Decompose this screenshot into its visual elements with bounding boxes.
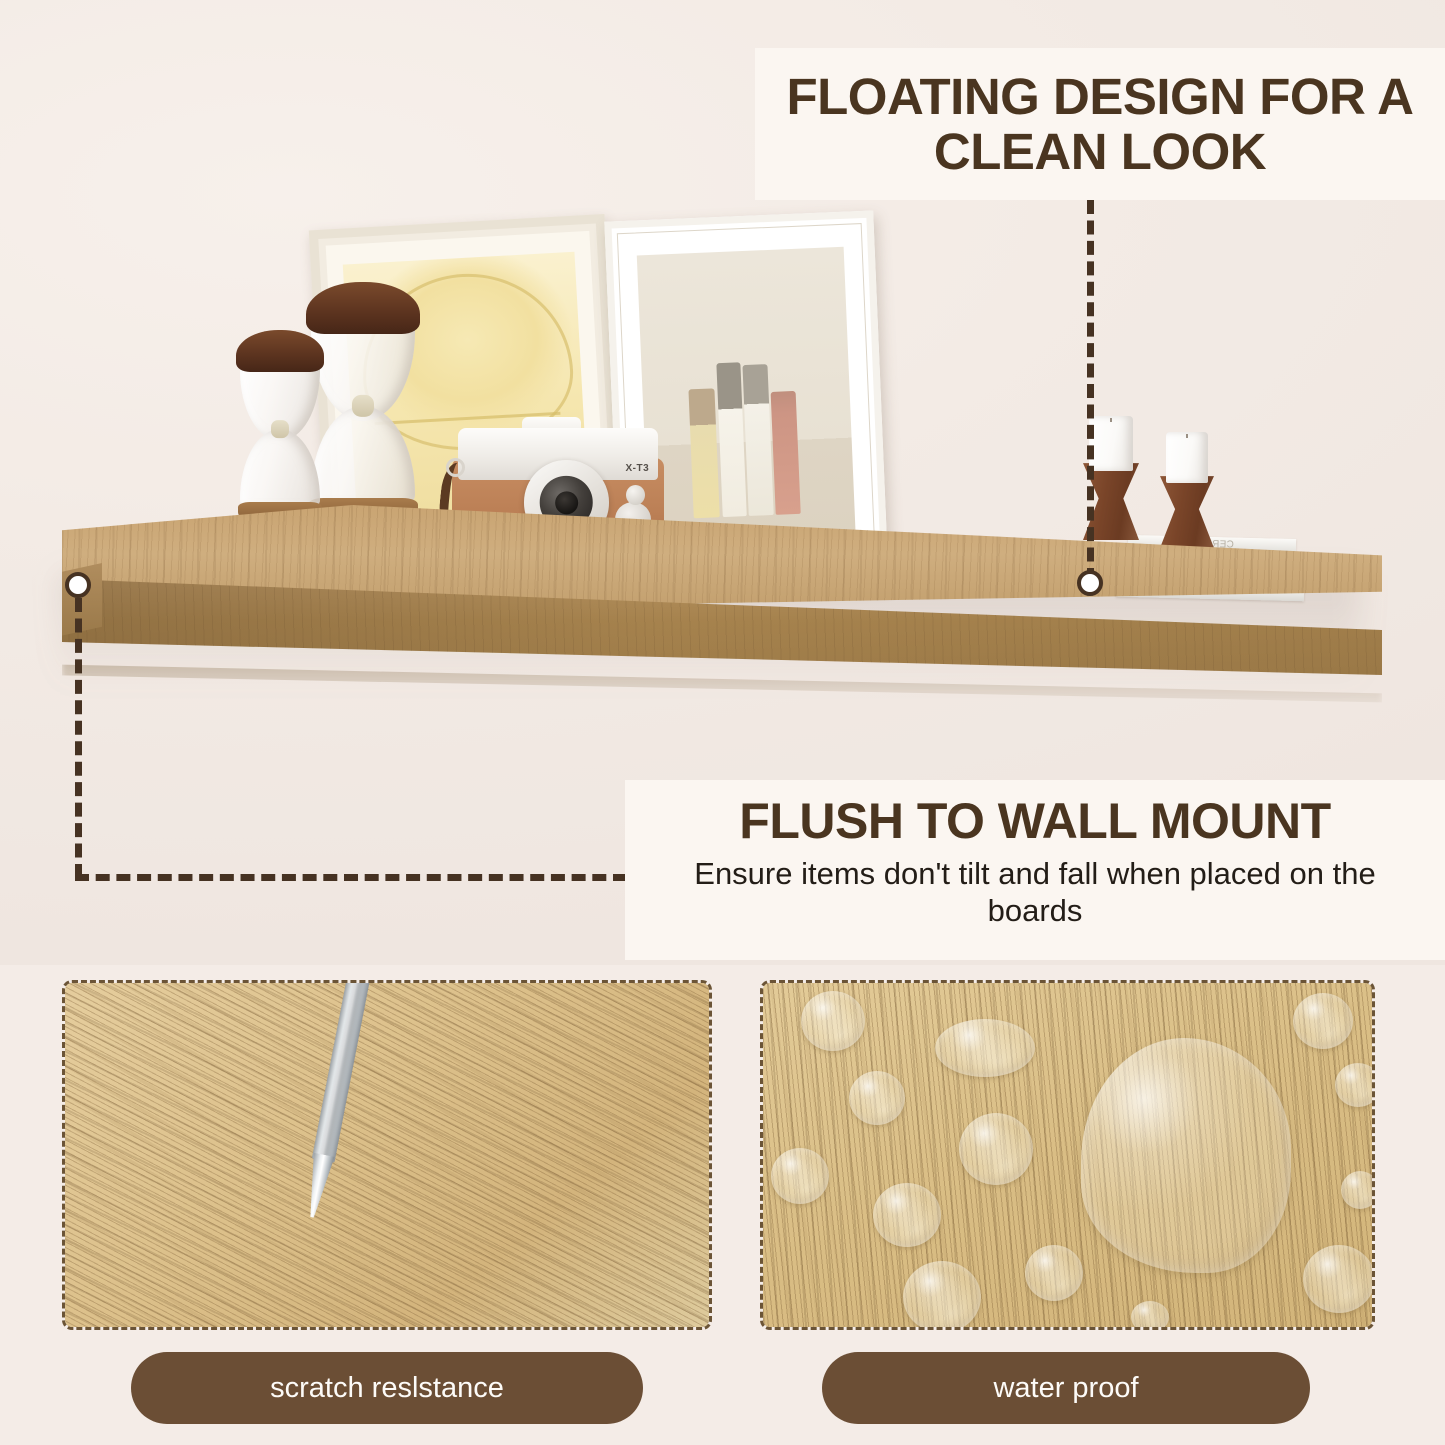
connector-line-top (1087, 200, 1094, 582)
hourglass-cap (236, 330, 324, 372)
connector-dot-top (1077, 570, 1103, 596)
hourglass-bulb-bottom (311, 406, 416, 505)
callout-top-title: FLOATING DESIGN FOR A CLEAN LOOK (755, 69, 1445, 179)
wood-grain-diagonal (65, 983, 709, 1327)
feature-panel-waterproof (760, 980, 1375, 1330)
connector-line-bottom-vertical (75, 598, 82, 878)
bottle-white (743, 364, 774, 516)
water-droplet (1131, 1301, 1169, 1330)
label-scratch-resistance: scratch reslstance (131, 1352, 643, 1424)
water-droplet (849, 1071, 905, 1125)
bottle-white-tall (716, 362, 747, 517)
callout-flush-mount: FLUSH TO WALL MOUNT Ensure items don't t… (625, 780, 1445, 960)
water-droplet (1081, 1038, 1291, 1273)
product-feature-image: X-T3 Эрик Мейерр CAXOCCTBO CTPATEfMM CER… (0, 0, 1445, 1445)
camera-model-label: X-T3 (626, 463, 650, 474)
connector-line-bottom-horizontal (75, 874, 627, 881)
callout-bottom-title: FLUSH TO WALL MOUNT (651, 794, 1419, 848)
hourglass-waist (352, 395, 375, 417)
hourglass-cap (306, 282, 420, 334)
water-droplet (1335, 1063, 1375, 1107)
water-droplet (1293, 993, 1353, 1049)
pillar-candle (1166, 432, 1208, 483)
water-droplet (935, 1019, 1035, 1077)
water-droplet (771, 1148, 829, 1204)
water-droplet (1025, 1245, 1083, 1301)
hourglass-bulb-bottom (240, 429, 321, 508)
water-droplet (903, 1261, 981, 1330)
callout-floating-design: FLOATING DESIGN FOR A CLEAN LOOK (755, 48, 1445, 200)
feature-panel-scratch (62, 980, 712, 1330)
connector-dot-bottom (65, 572, 91, 598)
bottle-terracotta (771, 391, 801, 515)
water-droplet (873, 1183, 941, 1247)
water-droplet (959, 1113, 1033, 1185)
hourglass-waist (271, 420, 289, 438)
bottle-yellow (688, 388, 720, 518)
water-droplet (1341, 1171, 1375, 1209)
floating-shelf (62, 505, 1382, 720)
camera-button (626, 485, 645, 505)
candle-wick (1186, 434, 1188, 438)
pillar-candle (1089, 416, 1133, 471)
camera-strap-ring (446, 458, 465, 477)
callout-bottom-subtitle: Ensure items don't tilt and fall when pl… (651, 856, 1419, 929)
label-water-proof: water proof (822, 1352, 1310, 1424)
hourglass-small (236, 330, 324, 528)
water-droplet (801, 991, 865, 1051)
water-droplet (1303, 1245, 1375, 1313)
candle-wick (1110, 418, 1112, 422)
